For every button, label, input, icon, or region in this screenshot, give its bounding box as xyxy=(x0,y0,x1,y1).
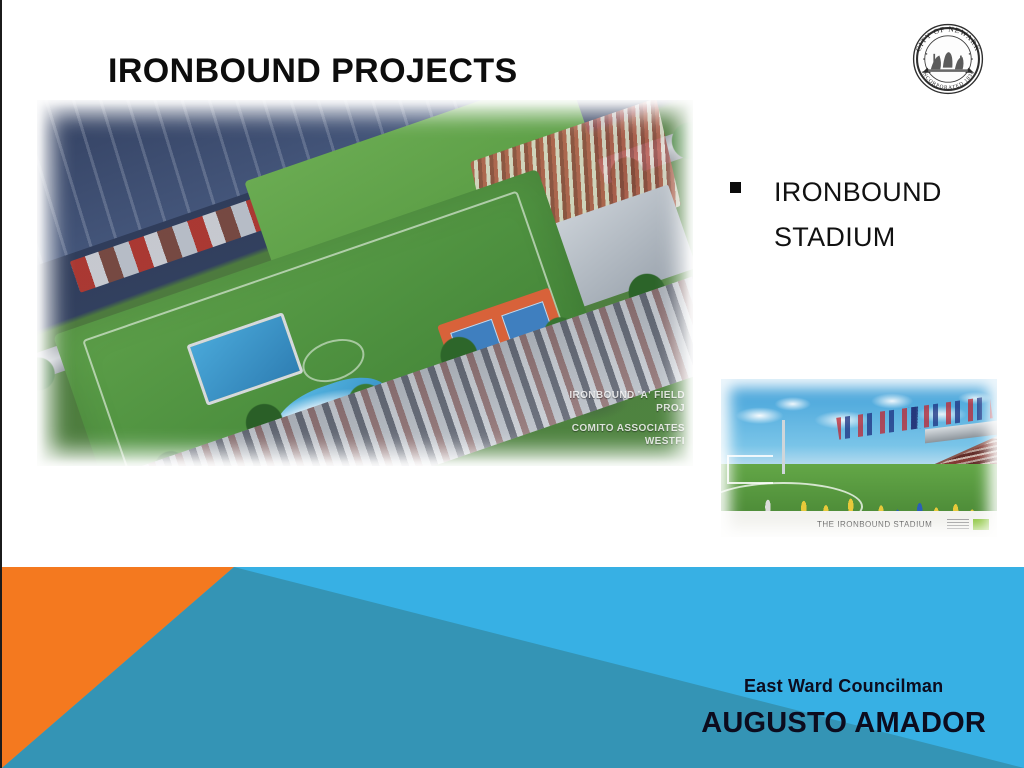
stadium-architect-logo-icon xyxy=(947,519,989,530)
square-bullet-icon xyxy=(730,182,741,193)
stadium-light-tower xyxy=(782,420,785,474)
footer-role: East Ward Councilman xyxy=(701,676,986,697)
aerial-watermark-line3: COMITO ASSOCIATES xyxy=(569,422,685,435)
aerial-artwork: IRONBOUND 'A' FIELD PROJ COMITO ASSOCIAT… xyxy=(37,100,693,466)
ironbound-field-aerial-image: IRONBOUND 'A' FIELD PROJ COMITO ASSOCIAT… xyxy=(37,100,693,466)
logo-lines xyxy=(947,519,969,529)
city-of-newark-seal-icon: CITY OF NEWARK INCORPORATED 1836 xyxy=(905,16,991,102)
bullet-item-label: IRONBOUND STADIUM xyxy=(774,170,1000,260)
presentation-slide: IRONBOUND PROJECTS CITY OF NEWARK INCORP… xyxy=(0,0,1024,768)
bullet-item-ironbound-stadium: IRONBOUND STADIUM xyxy=(730,170,1000,260)
logo-block xyxy=(973,519,989,530)
stadium-caption-bar: THE IRONBOUND STADIUM xyxy=(721,511,997,537)
stadium-caption: THE IRONBOUND STADIUM xyxy=(817,520,932,529)
ironbound-stadium-image: THE IRONBOUND STADIUM xyxy=(715,371,1003,543)
stadium-artwork: THE IRONBOUND STADIUM xyxy=(721,379,997,537)
footer-credit: East Ward Councilman AUGUSTO AMADOR xyxy=(701,676,986,740)
aerial-watermark-line4: WESTFI xyxy=(569,435,685,448)
footer-name: AUGUSTO AMADOR xyxy=(701,707,986,740)
page-title: IRONBOUND PROJECTS xyxy=(108,52,518,91)
